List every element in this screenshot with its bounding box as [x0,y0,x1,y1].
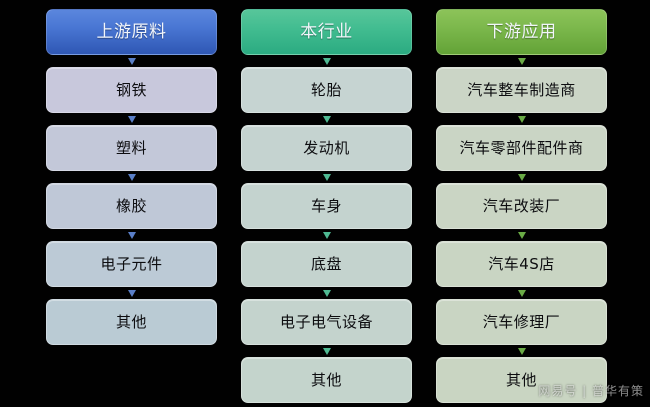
arrow-down-icon [518,290,526,297]
chain-node: 汽车整车制造商 [436,67,607,113]
chain-node: 其他 [46,299,217,345]
arrow-connector [436,345,607,357]
arrow-down-icon [323,290,331,297]
arrow-down-icon [323,116,331,123]
arrow-connector [436,287,607,299]
arrow-down-icon [518,116,526,123]
arrow-down-icon [128,232,136,239]
chain-node: 底盘 [241,241,412,287]
arrow-down-icon [518,58,526,65]
arrow-down-icon [128,116,136,123]
arrow-down-icon [323,174,331,181]
arrow-connector [436,113,607,125]
column-header-downstream: 下游应用 [436,9,607,55]
arrow-connector [436,55,607,67]
arrow-connector [46,287,217,299]
arrow-down-icon [323,58,331,65]
arrow-connector [241,345,412,357]
arrow-connector [241,287,412,299]
chain-node: 汽车修理厂 [436,299,607,345]
chain-node: 橡胶 [46,183,217,229]
chain-node: 电子电气设备 [241,299,412,345]
arrow-down-icon [518,348,526,355]
arrow-connector [436,229,607,241]
arrow-connector [241,171,412,183]
chain-column-upstream: 上游原料 钢铁 塑料 橡胶 电子元件 其他 [46,0,217,407]
chain-node: 其他 [436,357,607,403]
arrow-connector [436,171,607,183]
arrow-down-icon [128,174,136,181]
chain-node: 汽车4S店 [436,241,607,287]
arrow-down-icon [323,232,331,239]
arrow-down-icon [323,348,331,355]
chain-node: 钢铁 [46,67,217,113]
arrow-down-icon [128,58,136,65]
industry-chain-diagram: 上游原料 钢铁 塑料 橡胶 电子元件 其他 本行业 轮胎 发动机 车身 底盘 电… [0,0,650,407]
arrow-down-icon [518,174,526,181]
chain-node: 发动机 [241,125,412,171]
arrow-connector [46,55,217,67]
column-header-industry: 本行业 [241,9,412,55]
arrow-connector [46,113,217,125]
chain-node: 轮胎 [241,67,412,113]
arrow-connector [241,229,412,241]
arrow-connector [241,55,412,67]
chain-node: 其他 [241,357,412,403]
chain-column-downstream: 下游应用 汽车整车制造商 汽车零部件配件商 汽车改装厂 汽车4S店 汽车修理厂 … [436,0,607,407]
chain-node: 塑料 [46,125,217,171]
arrow-connector [46,171,217,183]
chain-node: 汽车零部件配件商 [436,125,607,171]
arrow-connector [241,113,412,125]
arrow-down-icon [518,232,526,239]
arrow-down-icon [128,290,136,297]
chain-node: 汽车改装厂 [436,183,607,229]
column-header-upstream: 上游原料 [46,9,217,55]
arrow-connector [46,229,217,241]
chain-node: 车身 [241,183,412,229]
chain-node: 电子元件 [46,241,217,287]
chain-column-industry: 本行业 轮胎 发动机 车身 底盘 电子电气设备 其他 [241,0,412,407]
